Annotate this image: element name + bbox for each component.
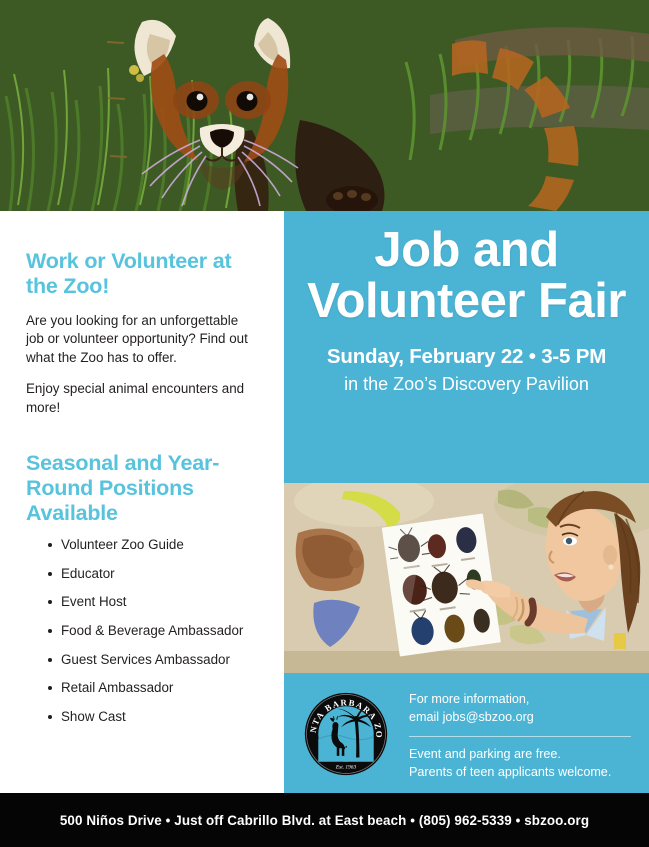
zoo-logo-icon: SANTA BARBARA ZOO Est. 1963 (304, 692, 388, 776)
flyer: Work or Volunteer at the Zoo! Are you lo… (0, 0, 649, 847)
red-panda-photo-illustration (0, 0, 649, 211)
hero-photo (0, 0, 649, 211)
contact-parents-line: Parents of teen applicants welcome. (409, 764, 631, 782)
contact-text-group: For more information, email jobs@sbzoo.o… (409, 688, 631, 782)
positions-list: Volunteer Zoo Guide Educator Event Host … (26, 537, 258, 725)
encounters-paragraph: Enjoy special animal encounters and more… (26, 380, 258, 417)
list-item: Food & Beverage Ambassador (48, 623, 258, 639)
list-item: Event Host (48, 594, 258, 610)
santa-barbara-zoo-logo: SANTA BARBARA ZOO Est. 1963 (304, 692, 388, 776)
contact-info-line: For more information, (409, 691, 631, 709)
divider (409, 736, 631, 738)
list-item: Educator (48, 566, 258, 582)
contact-email-line[interactable]: email jobs@sbzoo.org (409, 709, 631, 727)
intro-paragraph: Are you looking for an unforgettable job… (26, 312, 258, 368)
list-item: Show Cast (48, 709, 258, 725)
left-content-column: Work or Volunteer at the Zoo! Are you lo… (0, 211, 284, 793)
contact-block: SANTA BARBARA ZOO Est. 1963 For more inf… (284, 673, 649, 793)
list-item: Volunteer Zoo Guide (48, 537, 258, 553)
heading-work-or-volunteer: Work or Volunteer at the Zoo! (26, 249, 258, 299)
logo-est-text: Est. 1963 (335, 764, 357, 770)
event-title-panel: Job and Volunteer Fair Sunday, February … (284, 211, 649, 483)
page-title: Job and Volunteer Fair (300, 225, 633, 327)
educator-and-child-illustration (284, 483, 649, 673)
contact-free-line: Event and parking are free. (409, 746, 631, 764)
event-location: in the Zoo’s Discovery Pavilion (300, 374, 633, 396)
footer-address: 500 Niños Drive • Just off Cabrillo Blvd… (60, 813, 589, 828)
heading-positions-available: Seasonal and Year-Round Positions Availa… (26, 451, 258, 526)
footer-bar: 500 Niños Drive • Just off Cabrillo Blvd… (0, 793, 649, 847)
educator-photo (284, 483, 649, 673)
list-item: Retail Ambassador (48, 680, 258, 696)
list-item: Guest Services Ambassador (48, 652, 258, 668)
event-date-time: Sunday, February 22 • 3-5 PM (300, 345, 633, 370)
